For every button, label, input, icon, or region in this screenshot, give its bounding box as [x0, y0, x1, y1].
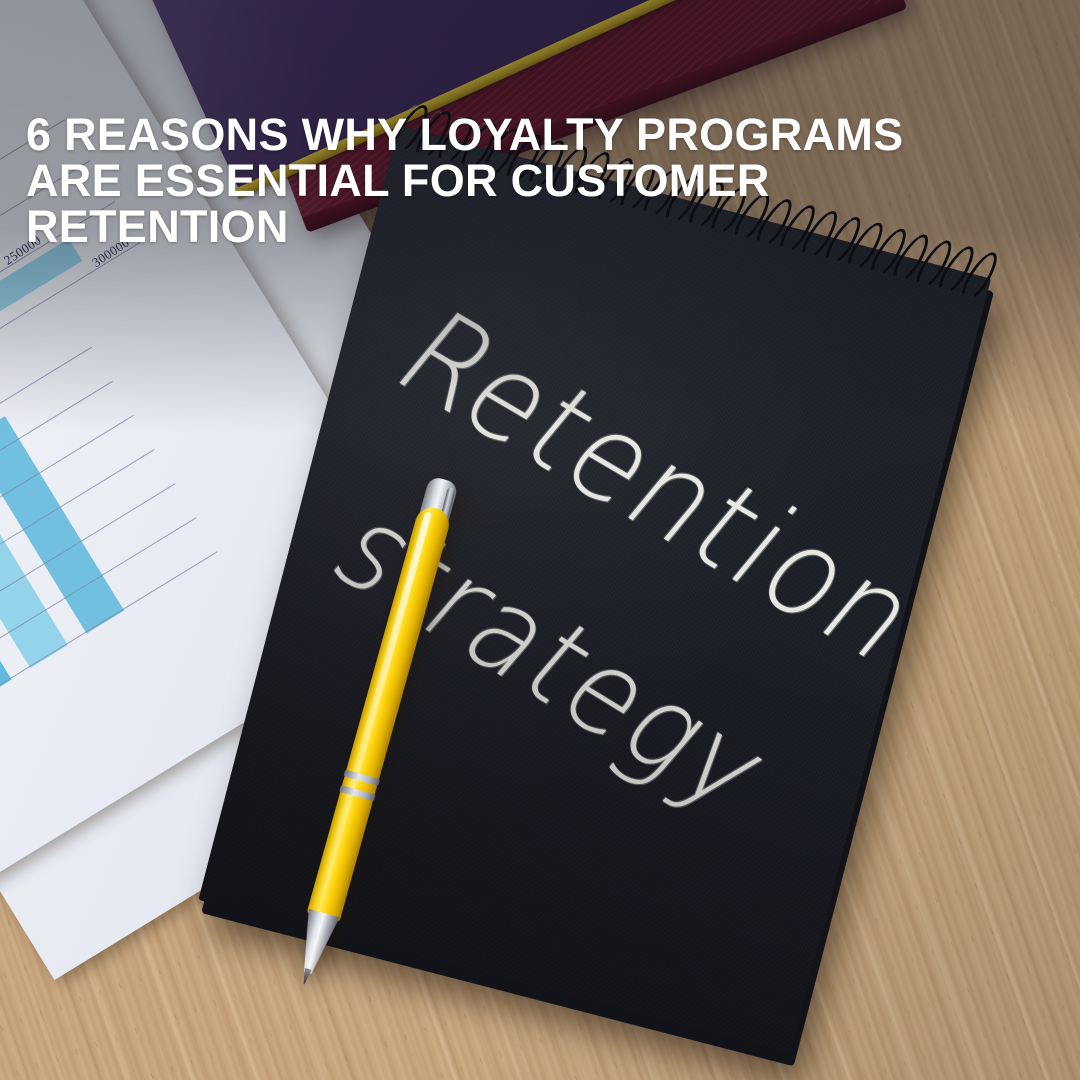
- social-post-image: 37003100320075343.214651.024045.239 1500…: [0, 0, 1080, 1080]
- page-title: 6 REASONS WHY LOYALTY PROGRAMS ARE ESSEN…: [26, 112, 1046, 250]
- pen-tip-cone: [292, 909, 339, 977]
